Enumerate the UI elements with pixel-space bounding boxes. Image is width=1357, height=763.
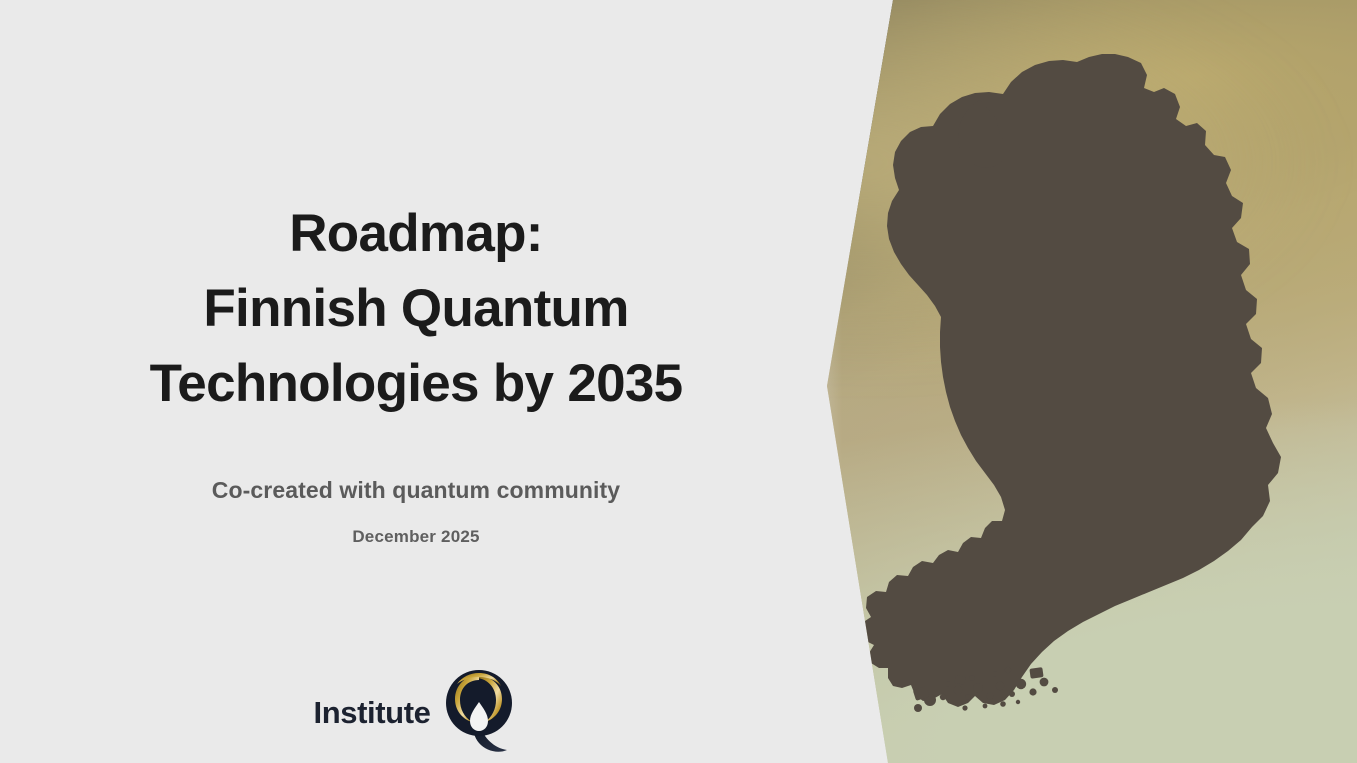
instituteq-q-mark-icon — [444, 668, 518, 754]
content-panel: Roadmap: Finnish Quantum Technologies by… — [0, 0, 840, 763]
title-line-1: Roadmap: — [0, 196, 832, 271]
instituteq-logo: Institute — [0, 668, 832, 754]
slide-root: Roadmap: Finnish Quantum Technologies by… — [0, 0, 1357, 763]
page-title: Roadmap: Finnish Quantum Technologies by… — [0, 196, 832, 421]
title-line-2: Finnish Quantum — [0, 271, 832, 346]
date-label: December 2025 — [0, 527, 832, 547]
logo-wordmark: Institute — [314, 697, 431, 728]
subtitle: Co-created with quantum community — [0, 477, 832, 504]
title-line-3: Technologies by 2035 — [0, 346, 832, 421]
